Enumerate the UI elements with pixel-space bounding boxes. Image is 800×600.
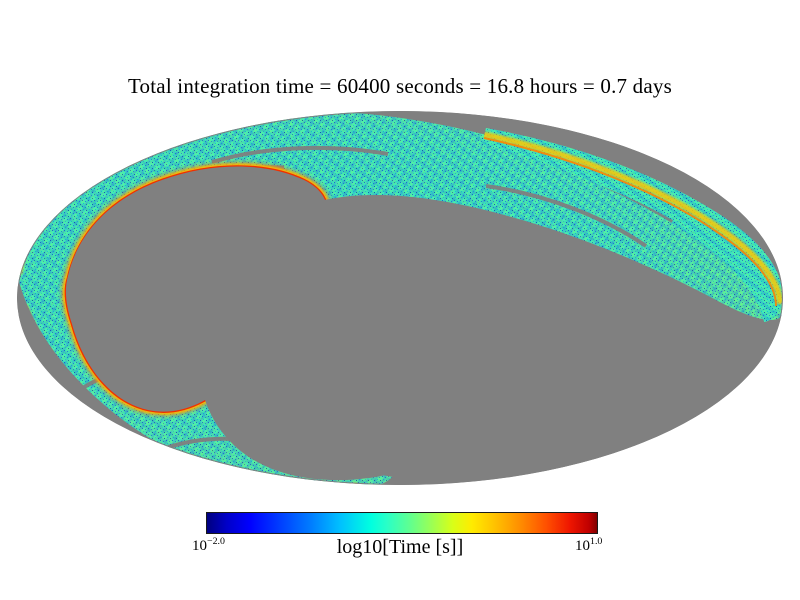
colorbar: 10−2.0 log10[Time [s]] 101.0 — [0, 508, 800, 568]
colorbar-gradient — [206, 512, 598, 534]
colorbar-label: log10[Time [s]] — [0, 536, 800, 559]
mollweide-projection-plot — [16, 110, 784, 486]
page-title: Total integration time = 60400 seconds =… — [0, 74, 800, 99]
sky-map — [16, 110, 784, 486]
colorbar-tick-max: 101.0 — [575, 538, 602, 555]
limb-coverage-band — [16, 110, 784, 486]
colorbar-tick-max-base: 10 — [575, 538, 590, 554]
colorbar-tick-max-exponent: 1.0 — [590, 536, 602, 547]
figure-canvas: Total integration time = 60400 seconds =… — [0, 0, 800, 600]
